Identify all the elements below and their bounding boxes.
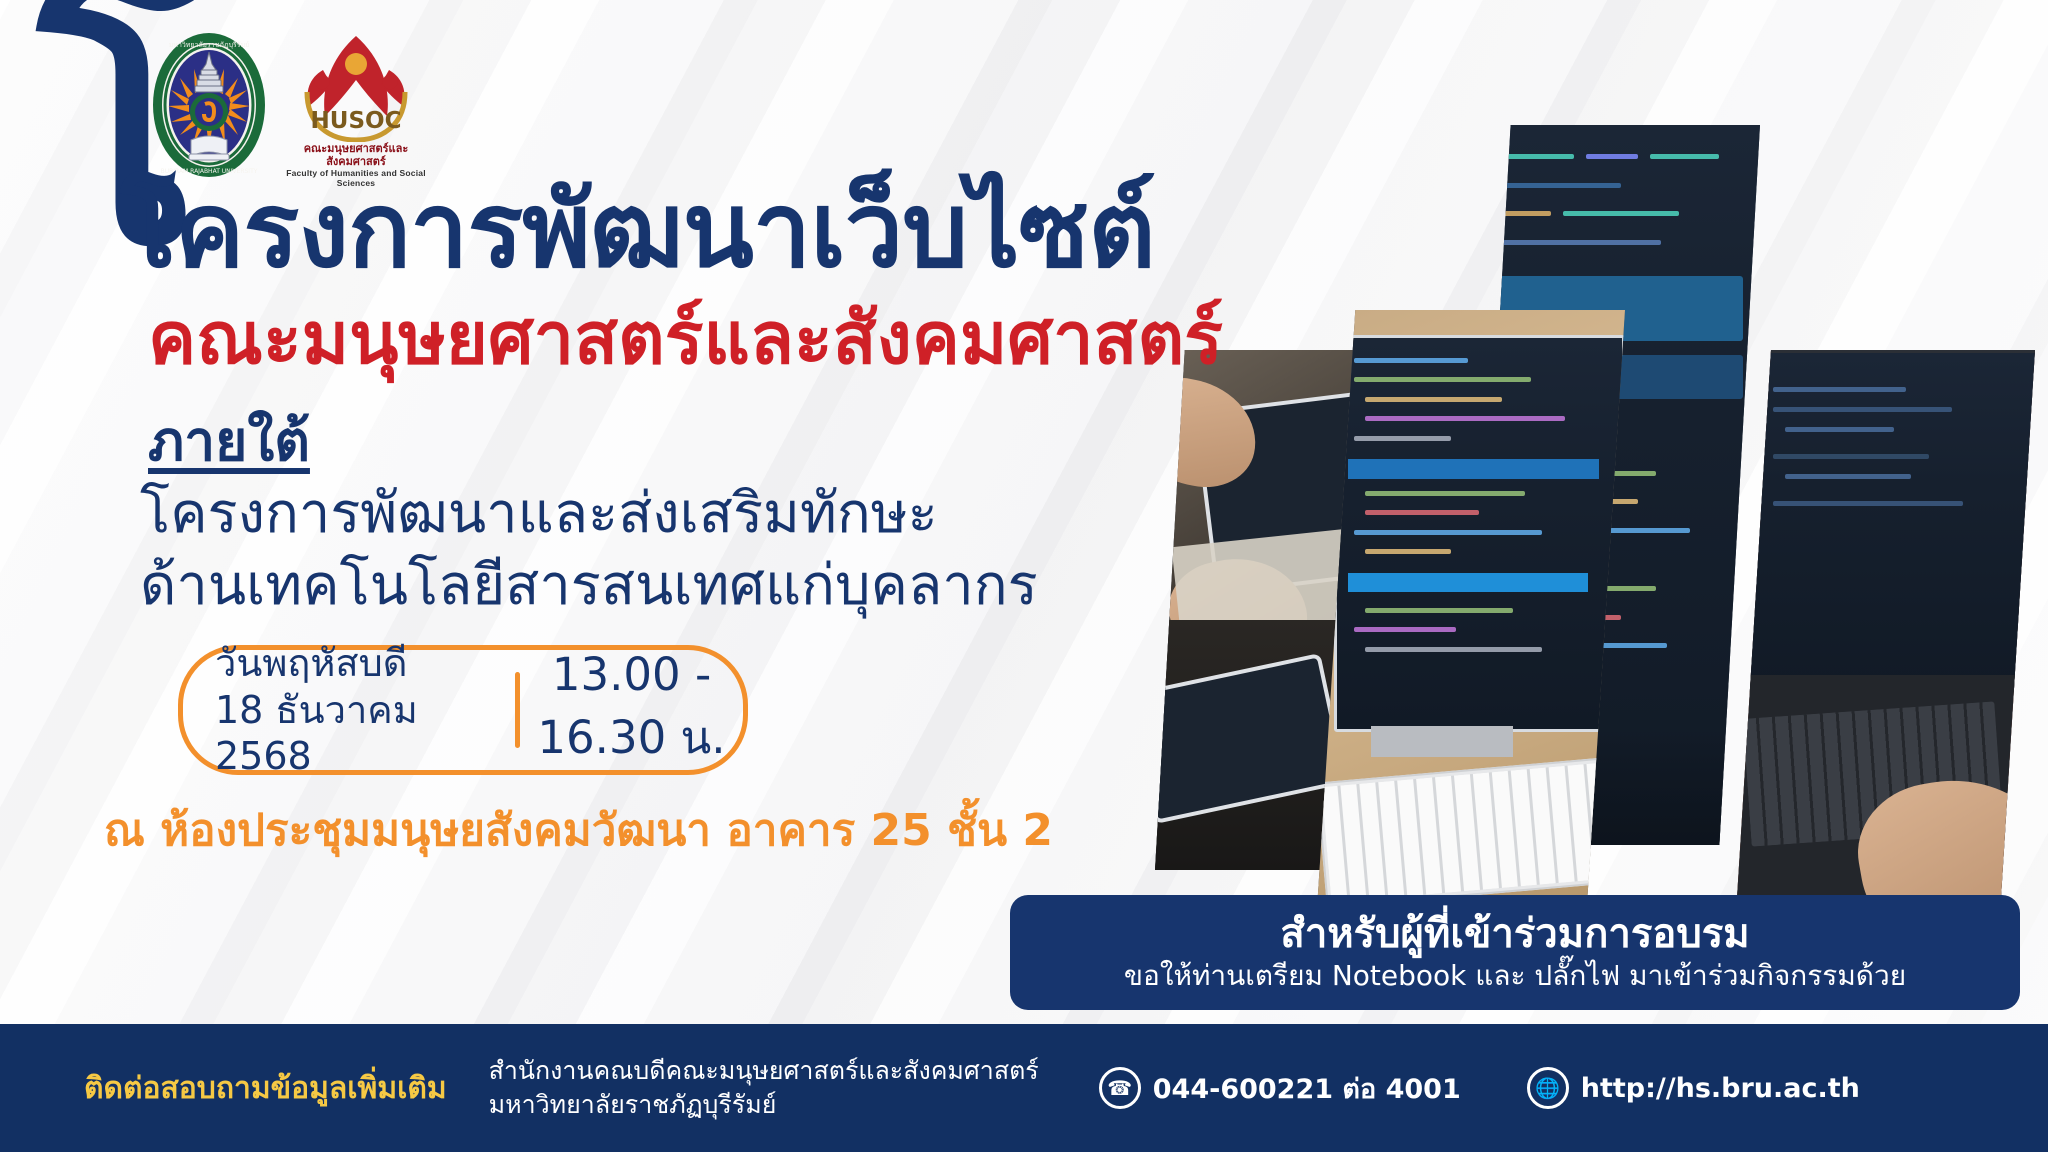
event-day: วันพฤหัสบดี <box>215 640 515 686</box>
keyboard <box>1316 758 1611 908</box>
logo-row: มหาวิทยาลัยราชภัฏบุรีรัมย์ BURIRAM RAJAB… <box>150 30 426 188</box>
event-date: 18 ธันวาคม 2568 <box>215 687 515 780</box>
bru-university-seal-icon: มหาวิทยาลัยราชภัฏบุรีรัมย์ BURIRAM RAJAB… <box>150 30 268 180</box>
laptop-screen <box>1747 350 2035 692</box>
page-subtitle: คณะมนุษยศาสตร์และสังคมศาสตร์ <box>148 302 1223 374</box>
svg-text:มหาวิทยาลัยราชภัฏบุรีรัมย์: มหาวิทยาลัยราชภัฏบุรีรัมย์ <box>169 41 250 49</box>
event-time: 13.00 - 16.30 น. <box>520 648 743 773</box>
footer-phone-number: 044-600221 ต่อ 4001 <box>1153 1067 1461 1110</box>
footer-contact-label: ติดต่อสอบถามข้อมูลเพิ่มเติม <box>84 1065 447 1112</box>
notice-banner: สำหรับผู้ที่เข้าร่วมการอบรม ขอให้ท่านเตร… <box>1010 895 2020 1010</box>
date-block: วันพฤหัสบดี 18 ธันวาคม 2568 <box>183 640 515 779</box>
photo-laptop-brick-wall <box>1735 350 2035 930</box>
footer-bar: ติดต่อสอบถามข้อมูลเพิ่มเติม สำนักงานคณบด… <box>0 1024 2048 1152</box>
page-title: โครงการพัฒนาเว็บไซต์ <box>120 178 1155 282</box>
footer-office: สำนักงานคณบดีคณะมนุษยศาสตร์และสังคมศาสตร… <box>489 1054 1039 1122</box>
footer-office-line-1: สำนักงานคณบดีคณะมนุษยศาสตร์และสังคมศาสตร… <box>489 1054 1039 1088</box>
datetime-pill: วันพฤหัสบดี 18 ธันวาคม 2568 13.00 - 16.3… <box>178 645 748 775</box>
globe-icon: 🌐 <box>1527 1067 1569 1109</box>
event-venue: ณ ห้องประชุมมนุษยสังคมวัฒนา อาคาร 25 ชั้… <box>104 795 1053 865</box>
footer-contacts: ☎ 044-600221 ต่อ 4001 🌐 http://hs.bru.ac… <box>1099 1067 1860 1110</box>
footer-phone[interactable]: ☎ 044-600221 ต่อ 4001 <box>1099 1067 1461 1110</box>
monitor-stand <box>1371 726 1514 758</box>
notice-title: สำหรับผู้ที่เข้าร่วมการอบรม <box>1010 912 2020 956</box>
husoc-thai-caption: คณะมนุษยศาสตร์และสังคมศาสตร์ <box>286 143 426 168</box>
footer-website-url: http://hs.bru.ac.th <box>1581 1073 1860 1104</box>
husoc-logo-icon: HUSOC คณะมนุษยศาสตร์และสังคมศาสตร์ Facul… <box>286 30 426 188</box>
notice-subtitle: ขอให้ท่านเตรียม Notebook และ ปลั๊กไฟ มาเ… <box>1010 958 2020 993</box>
footer-office-line-2: มหาวิทยาลัยราชภัฏบุรีรัมย์ <box>489 1088 1039 1122</box>
photo-monitor-code-keyboard <box>1315 310 1625 940</box>
footer-website[interactable]: 🌐 http://hs.bru.ac.th <box>1527 1067 1860 1109</box>
photo-collage <box>1000 170 2048 930</box>
poster-root: โ <box>0 0 2048 1152</box>
monitor-screen <box>1334 335 1625 732</box>
under-program-line-2: ด้านเทคโนโลยีสารสนเทศแก่บุคลากร <box>140 540 1038 629</box>
phone-icon: ☎ <box>1099 1067 1141 1109</box>
svg-text:HUSOC: HUSOC <box>311 108 402 134</box>
